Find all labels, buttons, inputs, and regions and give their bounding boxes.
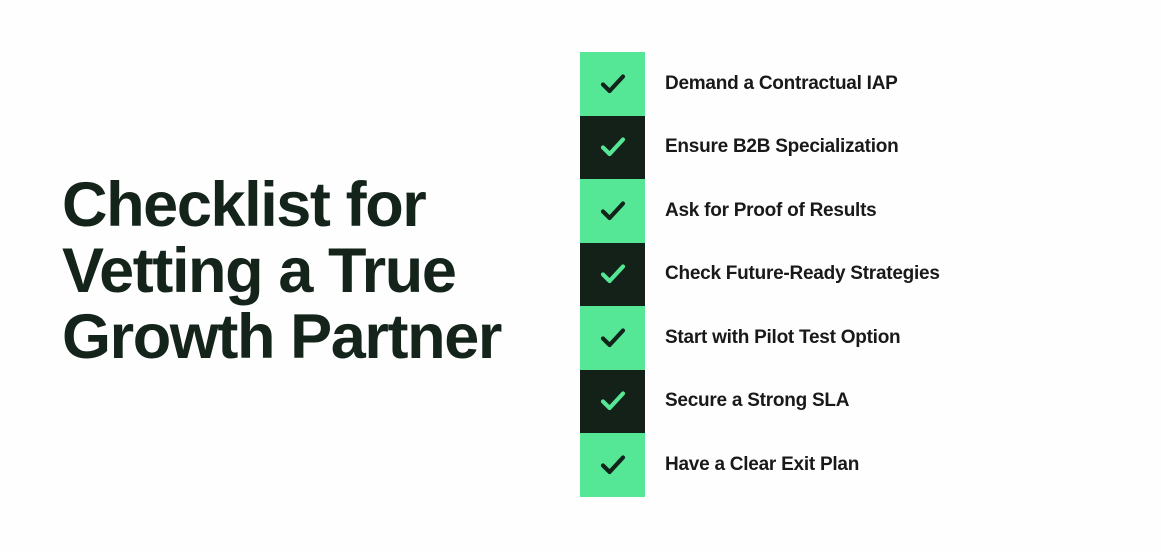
checklist-item-label: Secure a Strong SLA	[665, 390, 849, 412]
checklist-item-checkbox[interactable]	[580, 306, 645, 370]
checklist-item-checkbox[interactable]	[580, 243, 645, 307]
check-icon	[598, 132, 628, 162]
slide-canvas: Checklist for Vetting a True Growth Part…	[0, 0, 1161, 552]
checklist-item-label: Have a Clear Exit Plan	[665, 454, 859, 476]
checklist-item[interactable]: Demand a Contractual IAP	[580, 52, 1140, 116]
check-icon	[598, 196, 628, 226]
checklist-item-checkbox[interactable]	[580, 179, 645, 243]
page-title: Checklist for Vetting a True Growth Part…	[62, 172, 542, 370]
checklist-item-checkbox[interactable]	[580, 116, 645, 180]
checklist-item-label: Check Future-Ready Strategies	[665, 263, 940, 285]
checklist-item-label: Start with Pilot Test Option	[665, 327, 900, 349]
checklist-item-label: Demand a Contractual IAP	[665, 73, 898, 95]
checklist-item[interactable]: Have a Clear Exit Plan	[580, 433, 1140, 497]
checklist-item[interactable]: Secure a Strong SLA	[580, 370, 1140, 434]
check-icon	[598, 69, 628, 99]
checklist-item[interactable]: Start with Pilot Test Option	[580, 306, 1140, 370]
checklist-item-checkbox[interactable]	[580, 370, 645, 434]
check-icon	[598, 450, 628, 480]
checklist-item[interactable]: Ask for Proof of Results	[580, 179, 1140, 243]
check-icon	[598, 386, 628, 416]
checklist: Demand a Contractual IAPEnsure B2B Speci…	[580, 52, 1140, 497]
checklist-item-label: Ensure B2B Specialization	[665, 136, 898, 158]
checklist-item-label: Ask for Proof of Results	[665, 200, 876, 222]
check-icon	[598, 323, 628, 353]
checklist-item-checkbox[interactable]	[580, 433, 645, 497]
check-icon	[598, 259, 628, 289]
checklist-item[interactable]: Check Future-Ready Strategies	[580, 243, 1140, 307]
checklist-item-checkbox[interactable]	[580, 52, 645, 116]
checklist-item[interactable]: Ensure B2B Specialization	[580, 116, 1140, 180]
